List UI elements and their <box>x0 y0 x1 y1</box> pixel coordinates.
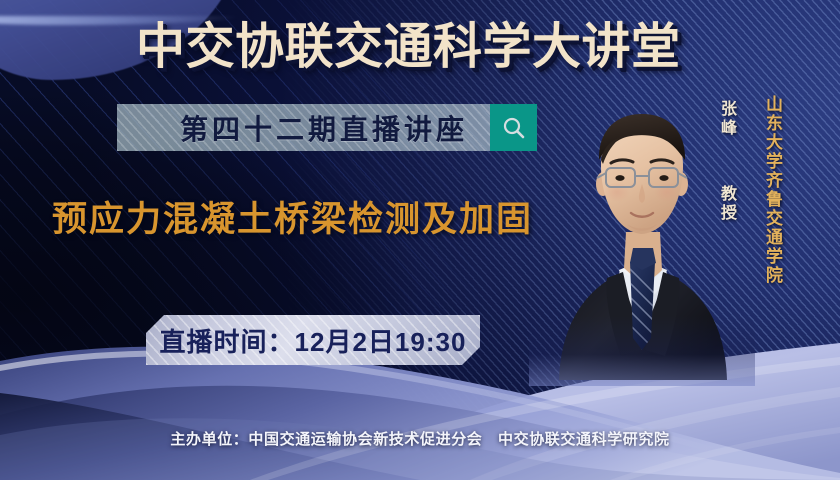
lecture-topic: 预应力混凝土桥梁检测及加固 <box>52 191 533 242</box>
search-button[interactable] <box>490 104 537 151</box>
episode-subtitle-bar: 第四十二期直播讲座 <box>117 104 537 151</box>
episode-subtitle-text: 第四十二期直播讲座 <box>117 104 490 151</box>
schedule-pill: 直播时间：12月2日19:30 <box>146 315 480 365</box>
speaker-portrait <box>547 100 737 380</box>
organizer-footer: 主办单位：中国交通运输协会新技术促进分会 中交协联交通科学研究院 <box>0 428 840 449</box>
search-icon <box>501 115 527 141</box>
speaker-affiliation: 山东大学齐鲁交通学院 <box>760 95 785 285</box>
live-stream-poster: 中交协联交通科学大讲堂 第四十二期直播讲座 预应力混凝土桥梁检测及加固 直播时间… <box>0 0 840 480</box>
speaker-role: 教授 <box>714 185 738 223</box>
poster-main-title: 中交协联交通科学大讲堂 <box>136 20 681 75</box>
schedule-text: 直播时间：12月2日19:30 <box>160 322 467 359</box>
speaker-name: 张峰 <box>714 100 738 138</box>
